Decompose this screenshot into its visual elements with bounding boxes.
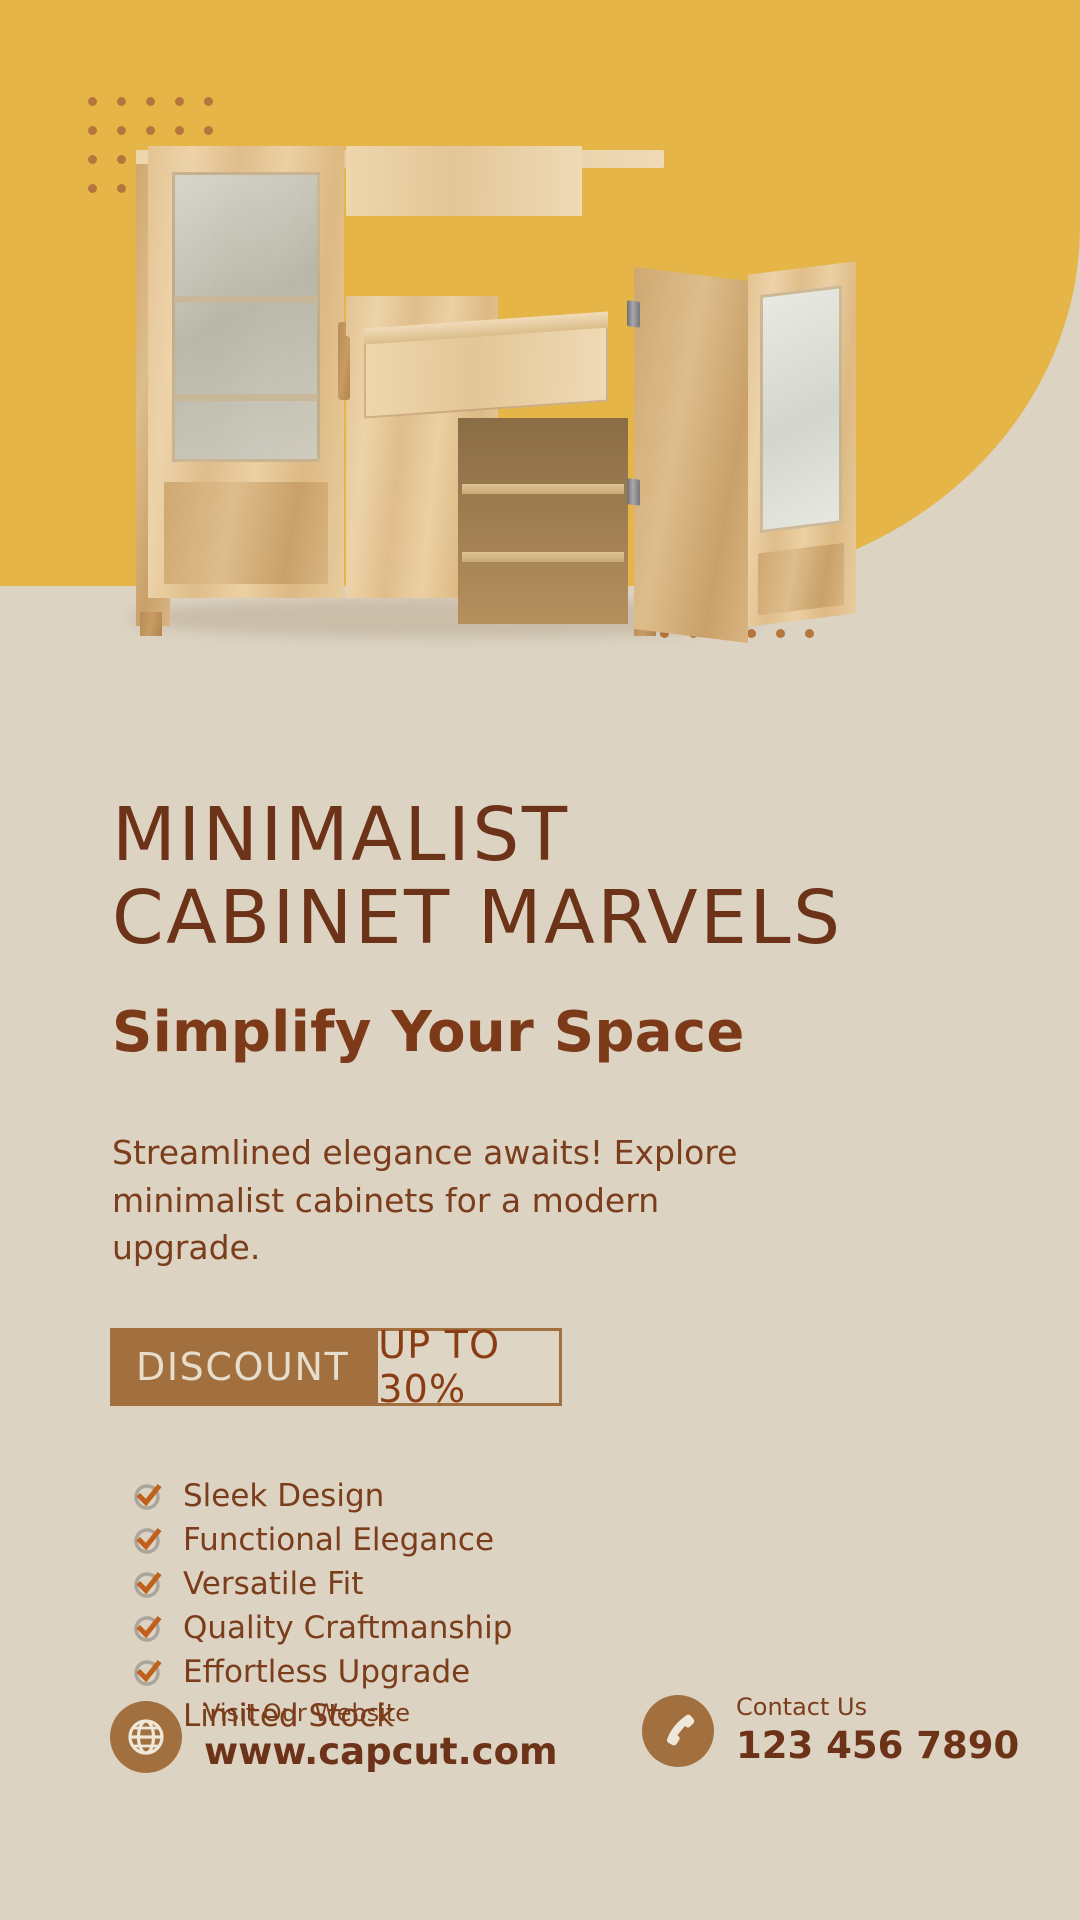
website-label: Visit Our Website	[204, 1700, 558, 1726]
list-item-label: Quality Craftmanship	[183, 1610, 512, 1646]
list-item: Versatile Fit	[133, 1566, 1080, 1602]
glass-door-bottom-panel	[164, 482, 328, 584]
cabinet-glass-door	[148, 146, 344, 598]
website-value[interactable]: www.capcut.com	[204, 1732, 558, 1773]
footer-phone[interactable]: Contact Us 123 456 7890	[642, 1694, 1019, 1767]
decorative-dot	[175, 97, 184, 106]
decorative-dot	[204, 97, 213, 106]
product-image-cabinet	[118, 128, 778, 648]
hinge-lower	[627, 478, 640, 506]
content-section: MINIMALIST CABINET MARVELS Simplify Your…	[0, 720, 1080, 1742]
interior-shelf-upper	[462, 484, 624, 494]
cabinet-mirror-door	[748, 261, 856, 626]
globe-icon	[110, 1701, 182, 1773]
list-item: Functional Elegance	[133, 1522, 1080, 1558]
glass-shelf-lower	[174, 394, 318, 401]
list-item-label: Effortless Upgrade	[183, 1654, 470, 1690]
phone-text-block: Contact Us 123 456 7890	[736, 1694, 1019, 1767]
check-circle-icon	[133, 1569, 164, 1600]
decorative-dot	[146, 97, 155, 106]
list-item: Sleek Design	[133, 1478, 1080, 1514]
mirror-door-bottom-panel	[758, 543, 844, 616]
check-circle-icon	[133, 1613, 164, 1644]
glass-pane	[172, 172, 320, 462]
footer-website[interactable]: Visit Our Website www.capcut.com	[110, 1700, 558, 1773]
decorative-dot	[88, 155, 97, 164]
cabinet-foot-left	[140, 612, 162, 636]
drawer-top-closed	[346, 146, 582, 216]
body-description: Streamlined elegance awaits! Explore min…	[112, 1129, 752, 1273]
list-item-label: Versatile Fit	[183, 1566, 363, 1602]
footer-section: Visit Our Website www.capcut.com Contact…	[0, 1686, 1080, 1806]
hero-section	[0, 0, 1080, 720]
list-item: Effortless Upgrade	[133, 1654, 1080, 1690]
phone-icon	[642, 1695, 714, 1767]
website-text-block: Visit Our Website www.capcut.com	[204, 1700, 558, 1773]
discount-value: UP TO 30%	[375, 1328, 562, 1406]
interior-shelf-lower	[462, 552, 624, 562]
decorative-dot	[88, 126, 97, 135]
list-item-label: Functional Elegance	[183, 1522, 494, 1558]
page-subtitle: Simplify Your Space	[112, 1000, 1080, 1065]
poster-root: MINIMALIST CABINET MARVELS Simplify Your…	[0, 0, 1080, 1920]
middle-door-handle	[338, 336, 350, 400]
decorative-dot	[117, 97, 126, 106]
check-circle-icon	[133, 1657, 164, 1688]
phone-value[interactable]: 123 456 7890	[736, 1726, 1019, 1767]
page-title: MINIMALIST CABINET MARVELS	[112, 720, 1080, 960]
decorative-dot	[805, 629, 814, 638]
cabinet-right-open-door	[634, 267, 748, 643]
discount-label: DISCOUNT	[110, 1328, 375, 1406]
decorative-dot	[88, 97, 97, 106]
decorative-dot	[88, 184, 97, 193]
list-item-label: Sleek Design	[183, 1478, 384, 1514]
glass-shelf-upper	[174, 296, 318, 303]
hinge-upper	[627, 300, 640, 328]
mirror-pane	[760, 285, 842, 533]
phone-label: Contact Us	[736, 1694, 1019, 1720]
discount-banner: DISCOUNT UP TO 30%	[110, 1328, 562, 1406]
list-item: Quality Craftmanship	[133, 1610, 1080, 1646]
cabinet-interior-cavity	[458, 418, 628, 624]
check-circle-icon	[133, 1481, 164, 1512]
check-circle-icon	[133, 1525, 164, 1556]
